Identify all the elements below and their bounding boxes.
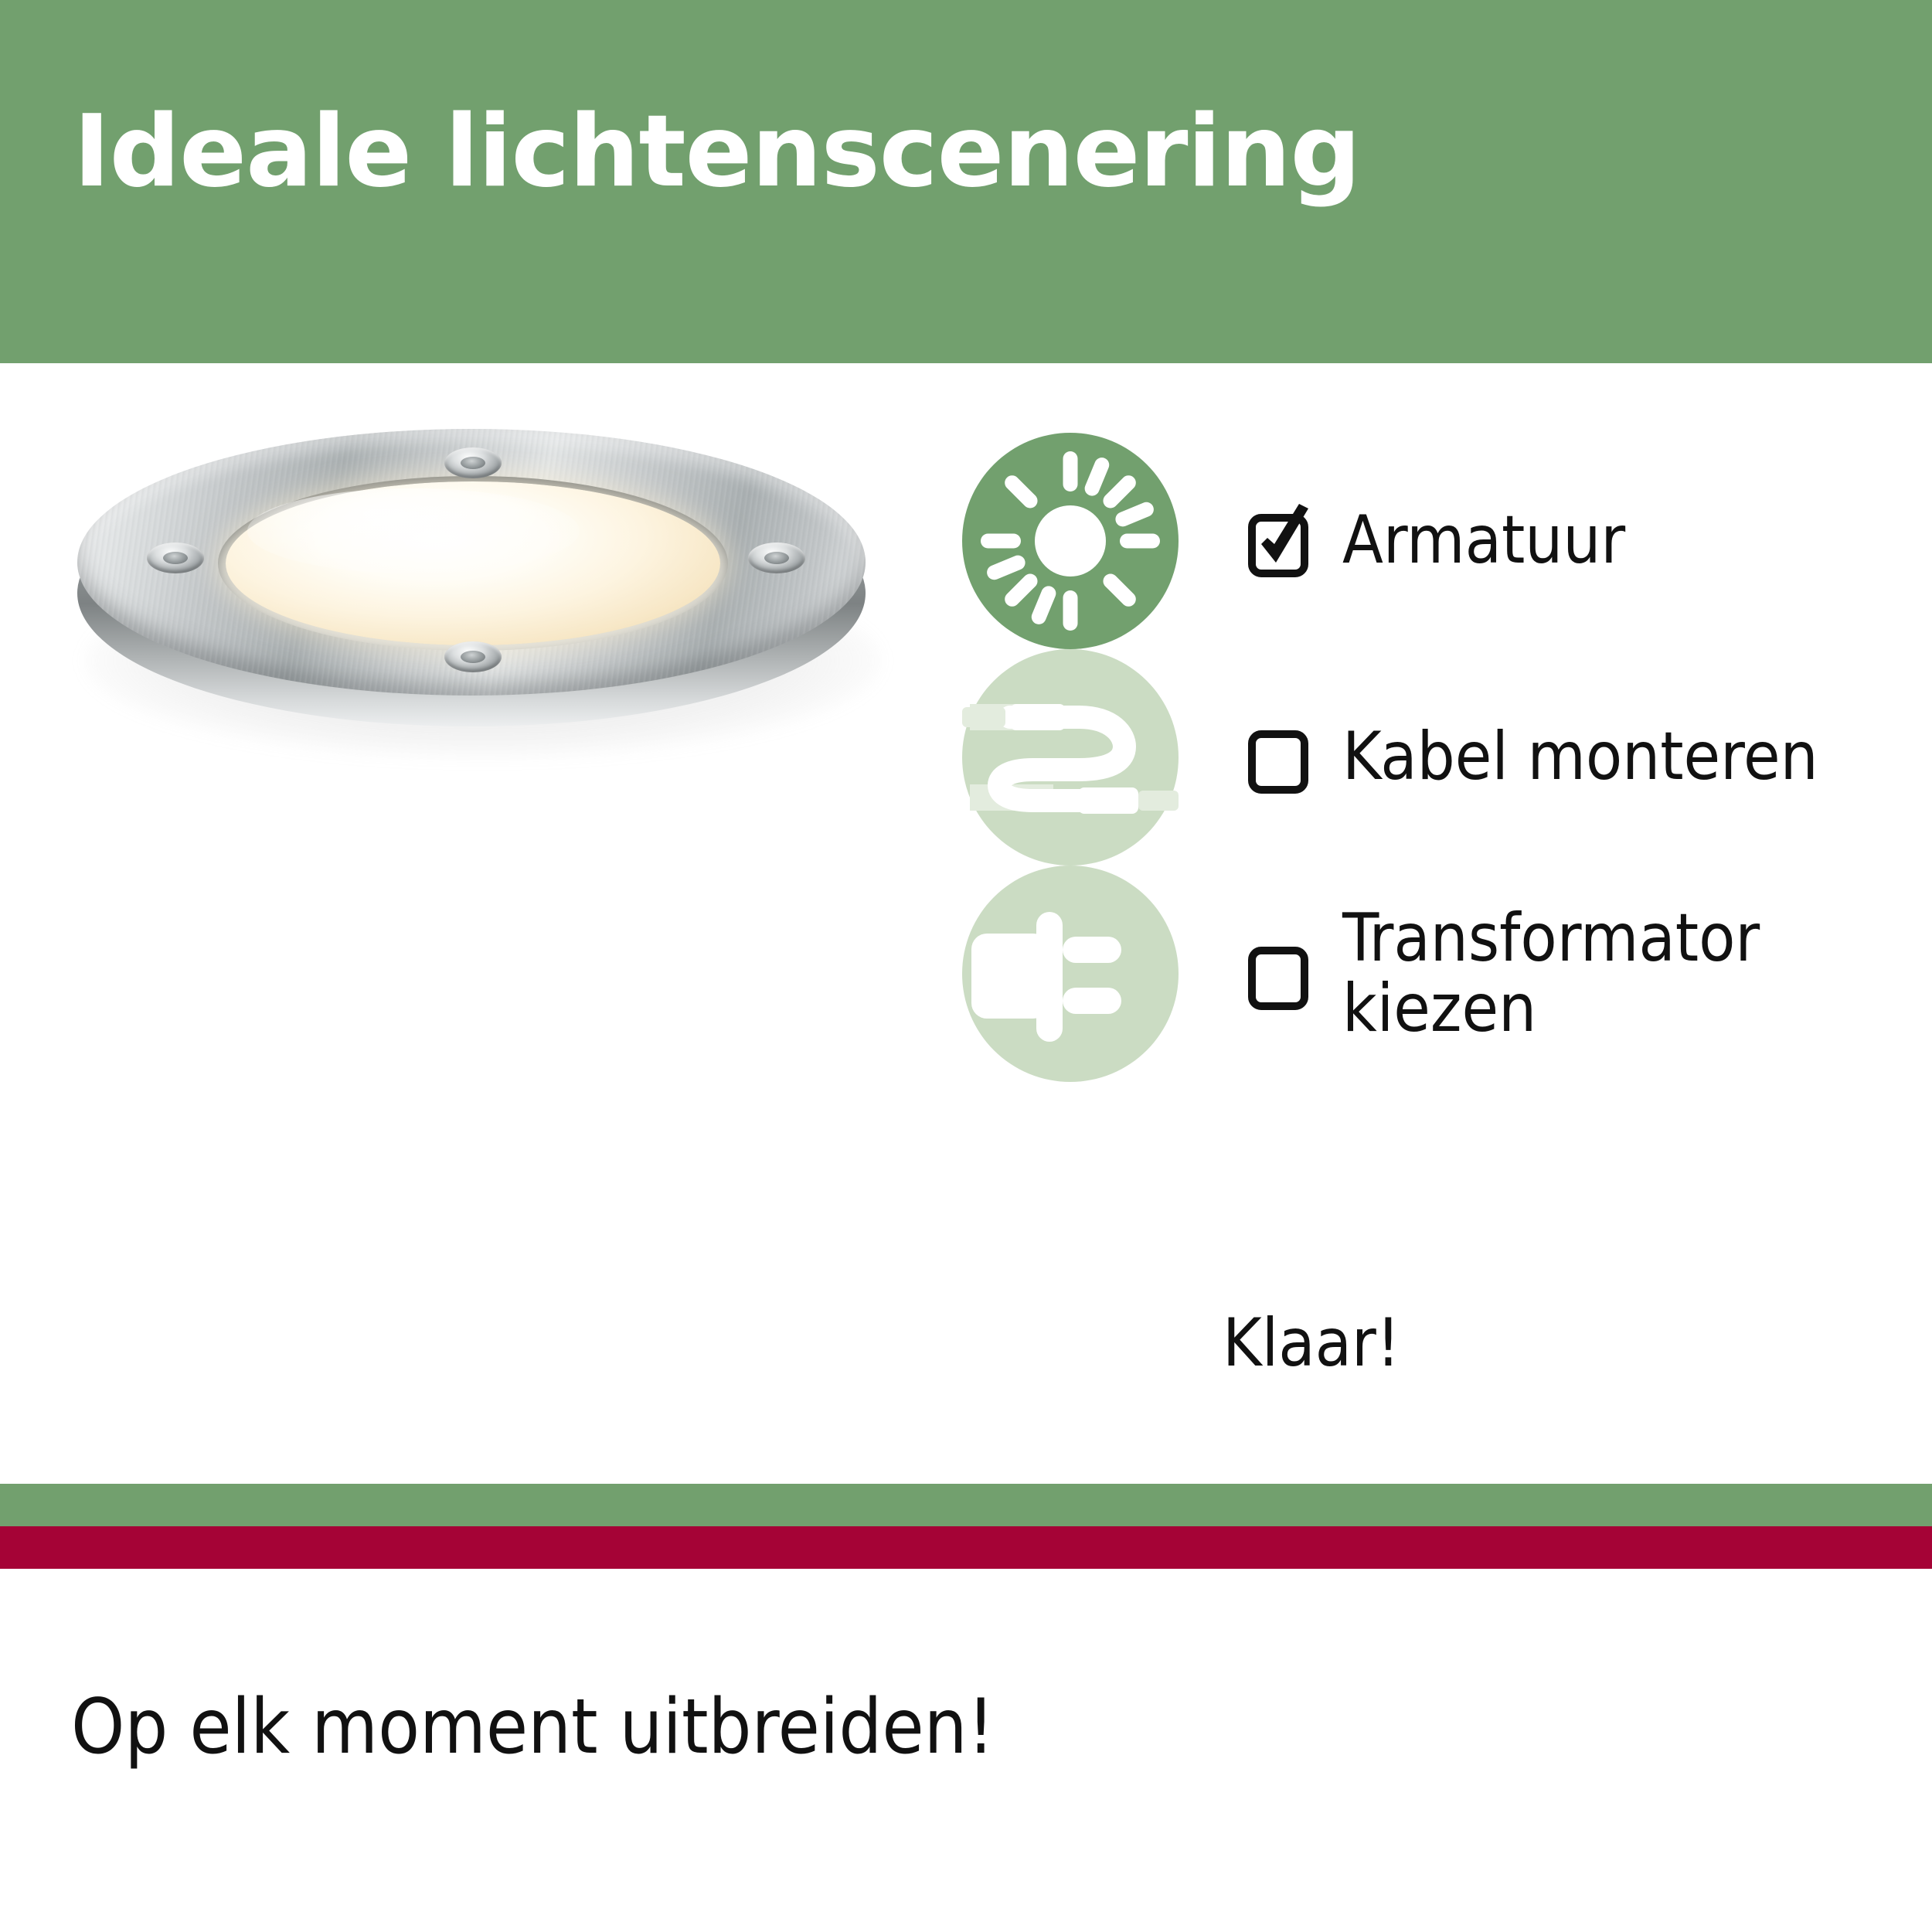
checkbox-kabel[interactable] xyxy=(1248,720,1315,794)
screw-icon xyxy=(748,543,805,573)
screw-icon xyxy=(444,447,502,478)
cable-icon xyxy=(962,649,1179,866)
checkbox-armatuur[interactable] xyxy=(1248,504,1315,578)
luminaire-diffuser-highlight xyxy=(247,488,580,573)
sun-icon xyxy=(962,433,1179,649)
checkbox-checked-icon[interactable] xyxy=(1248,504,1315,578)
done-text: Klaar! xyxy=(1223,1304,1400,1382)
list-item-label: Transformator kiezen xyxy=(1342,903,1760,1044)
checkbox-unchecked-icon[interactable] xyxy=(1248,720,1315,794)
footer-tagline: Op elk moment uitbreiden! xyxy=(71,1683,995,1771)
footer-green-bar xyxy=(0,1484,1932,1526)
list-item-label: Armatuur xyxy=(1342,505,1625,576)
icon-badge-transformator xyxy=(962,866,1179,1082)
screw-icon xyxy=(444,641,502,672)
footer-crimson-bar xyxy=(0,1526,1932,1569)
list-item-label: Kabel monteren xyxy=(1342,722,1818,792)
icon-badge-armatuur xyxy=(962,433,1179,649)
plug-icon xyxy=(962,866,1179,1082)
product-image xyxy=(54,402,920,788)
checkbox-transformator[interactable] xyxy=(1248,937,1315,1011)
screw-icon xyxy=(147,543,204,573)
icon-badge-kabel xyxy=(962,649,1179,866)
page-title: Ideale lichtenscenering xyxy=(73,103,1360,202)
list-item[interactable]: Kabel monteren xyxy=(962,649,1889,866)
list-item[interactable]: Transformator kiezen xyxy=(962,866,1889,1082)
checklist: Armatuur Kabel monteren xyxy=(962,433,1889,1082)
list-item[interactable]: Armatuur xyxy=(962,433,1889,649)
checkbox-unchecked-icon[interactable] xyxy=(1248,937,1315,1011)
